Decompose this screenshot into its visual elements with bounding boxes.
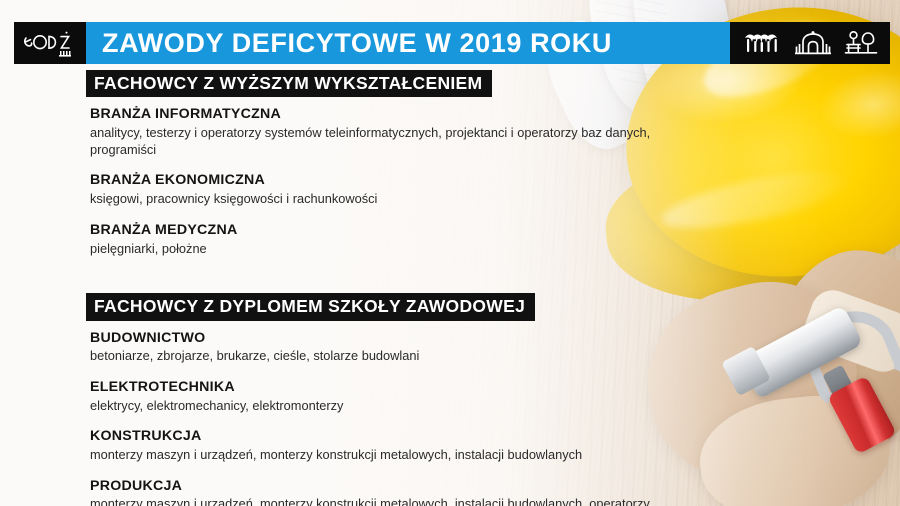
job-title: ELEKTROTECHNIKA: [90, 379, 726, 397]
job-description: monterzy maszyn i urządzeń, monterzy kon…: [90, 447, 690, 464]
job-entry: BUDOWNICTWO betoniarze, zbrojarze, bruka…: [86, 330, 726, 365]
city-gate-building-icon[interactable]: [794, 30, 832, 56]
job-title: BRANŻA INFORMATYCZNA: [90, 106, 726, 124]
job-title: BUDOWNICTWO: [90, 330, 726, 348]
job-description: pielęgniarki, położne: [90, 241, 690, 258]
job-entry: BRANŻA MEDYCZNA pielęgniarki, położne: [86, 222, 726, 257]
section-heading-higher-education: FACHOWCY Z WYŻSZYM WYKSZTAŁCENIEM: [86, 70, 492, 97]
poster-title-bar: ZAWODY DEFICYTOWE W 2019 ROKU: [86, 22, 730, 64]
job-description: księgowi, pracownicy księgowości i rachu…: [90, 191, 690, 208]
page-title: ZAWODY DEFICYTOWE W 2019 ROKU: [102, 30, 612, 57]
lodz-logo-icon: [21, 28, 79, 58]
park-bench-tree-icon[interactable]: [844, 30, 878, 56]
job-title: KONSTRUKCJA: [90, 428, 726, 446]
job-title: BRANŻA MEDYCZNA: [90, 222, 726, 240]
arcade-fountain-icon[interactable]: [742, 30, 782, 56]
infographic-poster: ZAWODY DEFICYTOWE W 2019 ROKU: [0, 0, 900, 506]
job-entry: ELEKTROTECHNIKA elektrycy, elektromechan…: [86, 379, 726, 414]
content-column: FACHOWCY Z WYŻSZYM WYKSZTAŁCENIEM BRANŻA…: [86, 70, 726, 506]
job-description: elektrycy, elektromechanicy, elektromont…: [90, 398, 690, 415]
job-entry: BRANŻA EKONOMICZNA księgowi, pracownicy …: [86, 172, 726, 207]
job-entry: PRODUKCJA monterzy maszyn i urządzeń, mo…: [86, 478, 726, 506]
job-entry: KONSTRUKCJA monterzy maszyn i urządzeń, …: [86, 428, 726, 463]
header-bar: ZAWODY DEFICYTOWE W 2019 ROKU: [14, 22, 890, 64]
job-description: betoniarze, zbrojarze, brukarze, cieśle,…: [90, 348, 690, 365]
job-description: monterzy maszyn i urządzeń, monterzy kon…: [90, 496, 690, 506]
job-title: PRODUKCJA: [90, 478, 726, 496]
lodz-logo[interactable]: [14, 22, 86, 64]
city-icons-bar: [730, 22, 890, 64]
job-entry: BRANŻA INFORMATYCZNA analitycy, testerzy…: [86, 106, 726, 158]
section-heading-vocational-diploma: FACHOWCY Z DYPLOMEM SZKOŁY ZAWODOWEJ: [86, 293, 535, 320]
job-description: analitycy, testerzy i operatorzy systemó…: [90, 125, 690, 158]
job-title: BRANŻA EKONOMICZNA: [90, 172, 726, 190]
